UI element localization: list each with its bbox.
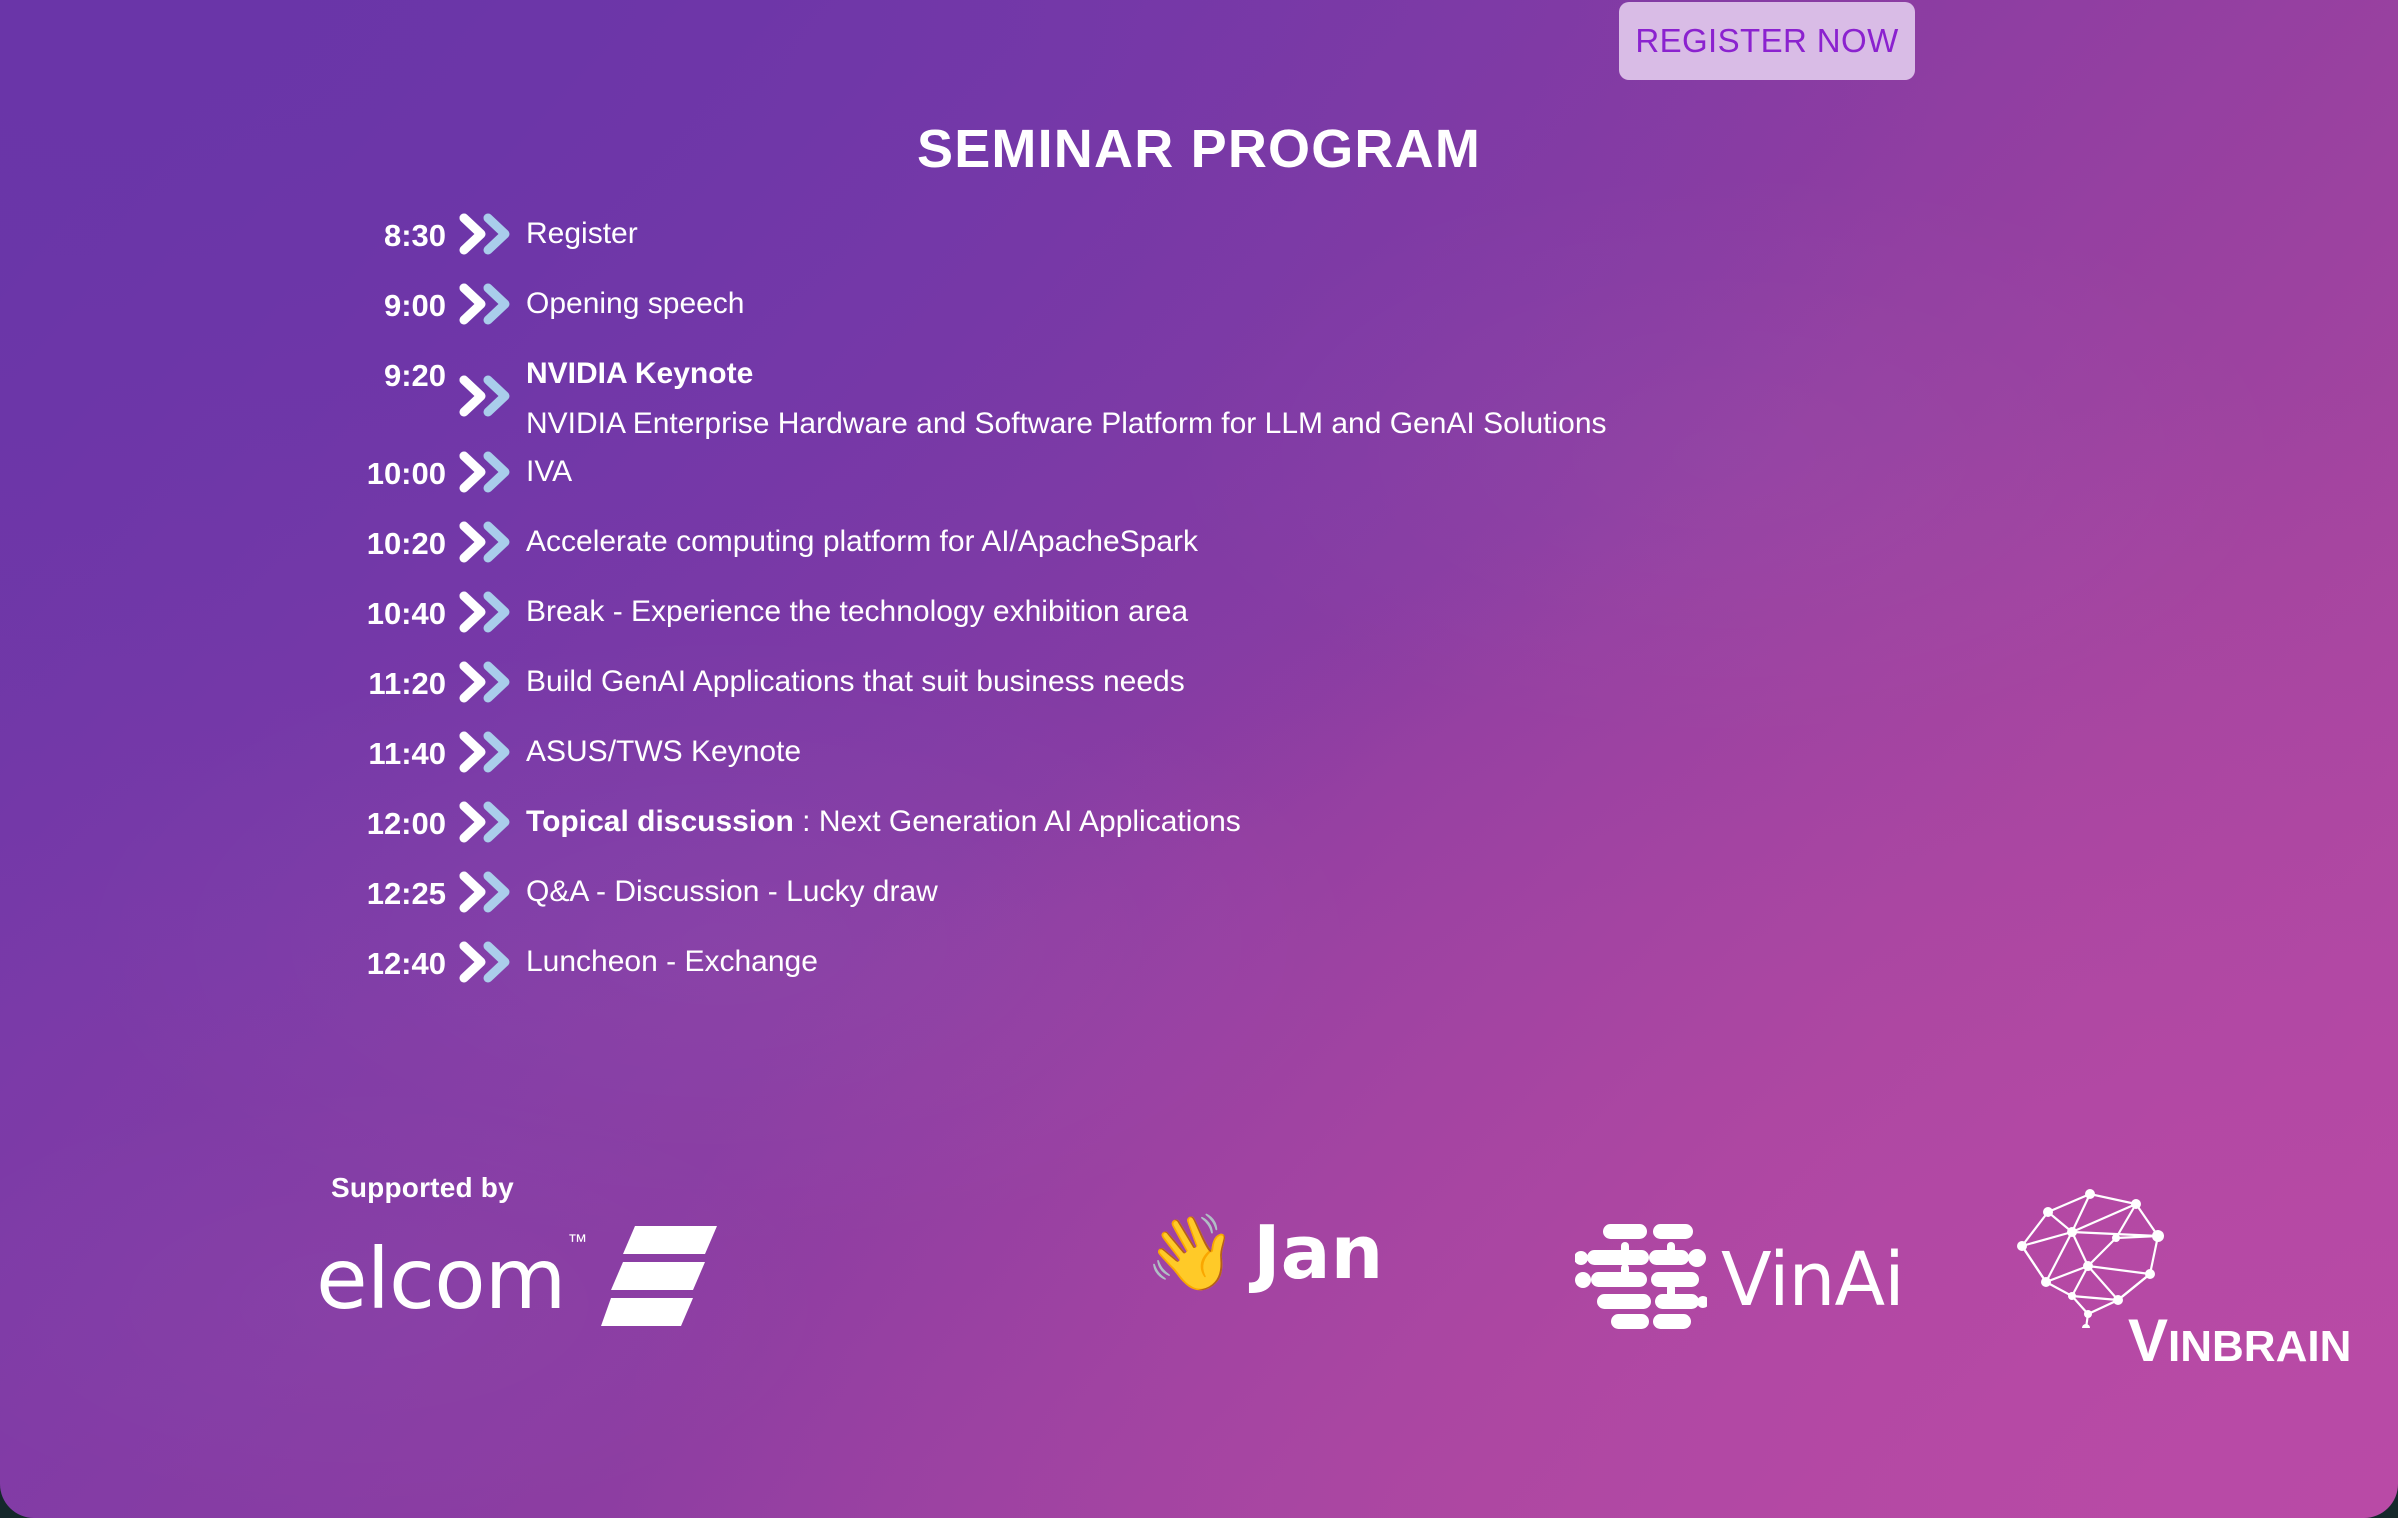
double-chevron-right-icon xyxy=(446,939,526,985)
schedule-row-time: 10:20 xyxy=(334,523,446,559)
schedule-row-description: Luncheon - Exchange xyxy=(526,943,818,977)
schedule-row: 8:30 Register xyxy=(0,215,2398,285)
schedule-list: 8:30 Register9:00 Opening speech9:20 NVI… xyxy=(0,215,2398,1013)
double-chevron-right-icon xyxy=(446,211,526,257)
schedule-row-time: 12:40 xyxy=(334,943,446,979)
schedule-row-time: 12:00 xyxy=(334,803,446,839)
page-title: SEMINAR PROGRAM xyxy=(0,118,2398,180)
schedule-row-text: Register xyxy=(526,217,638,250)
schedule-row-description: Opening speech xyxy=(526,285,745,319)
schedule-row-time: 10:40 xyxy=(334,593,446,629)
schedule-row-description: Topical discussion : Next Generation AI … xyxy=(526,803,1241,837)
waving-hand-icon: 👋 xyxy=(1145,1216,1237,1290)
logo-elcom: elcom ™ xyxy=(316,1224,717,1333)
schedule-row-text: Luncheon - Exchange xyxy=(526,945,818,978)
logo-elcom-wordmark: elcom xyxy=(316,1237,565,1321)
schedule-row-description: Build GenAI Applications that suit busin… xyxy=(526,663,1185,697)
register-now-button[interactable]: REGISTER NOW xyxy=(1619,2,1915,80)
logo-vinbrain-wordmark: VINBRAIN xyxy=(2128,1311,2351,1371)
schedule-row: 9:00 Opening speech xyxy=(0,285,2398,355)
logo-jan-wordmark: Jan xyxy=(1253,1216,1383,1290)
schedule-row-time: 12:25 xyxy=(334,873,446,909)
schedule-row: 9:20 NVIDIA KeynoteNVIDIA Enterprise Har… xyxy=(0,355,2398,453)
elcom-e-mark-icon xyxy=(601,1224,717,1333)
double-chevron-right-icon xyxy=(446,589,526,635)
logo-jan: 👋 Jan xyxy=(1145,1216,1383,1290)
double-chevron-right-icon xyxy=(446,799,526,845)
schedule-row: 10:40 Break - Experience the technology … xyxy=(0,593,2398,663)
schedule-row-time: 11:40 xyxy=(334,733,446,769)
schedule-row-description: IVA xyxy=(526,453,572,487)
schedule-row-time: 11:20 xyxy=(334,663,446,699)
schedule-row-text: Q&A - Discussion - Lucky draw xyxy=(526,875,938,908)
logo-vinai: VinAi xyxy=(1575,1218,1904,1341)
trademark-icon: ™ xyxy=(567,1232,587,1252)
schedule-row-description: Register xyxy=(526,215,638,249)
schedule-row-text: Break - Experience the technology exhibi… xyxy=(526,595,1188,628)
schedule-row-text: : Next Generation AI Applications xyxy=(794,805,1241,838)
double-chevron-right-icon xyxy=(446,659,526,705)
logo-vinbrain: VINBRAIN xyxy=(2000,1178,2351,1371)
schedule-row-text: Opening speech xyxy=(526,287,745,320)
schedule-row-time: 9:20 xyxy=(334,355,446,391)
schedule-row-lead: NVIDIA Keynote xyxy=(526,357,753,390)
schedule-row-text: Build GenAI Applications that suit busin… xyxy=(526,665,1185,698)
schedule-row: 10:20 Accelerate computing platform for … xyxy=(0,523,2398,593)
double-chevron-right-icon xyxy=(446,281,526,327)
vinai-neural-network-icon xyxy=(1575,1218,1707,1341)
schedule-row: 11:20 Build GenAI Applications that suit… xyxy=(0,663,2398,733)
supported-by-label: Supported by xyxy=(331,1172,514,1204)
schedule-row-description: NVIDIA KeynoteNVIDIA Enterprise Hardware… xyxy=(526,355,1607,439)
double-chevron-right-icon xyxy=(446,869,526,915)
double-chevron-right-icon xyxy=(446,729,526,775)
schedule-row-text: ASUS/TWS Keynote xyxy=(526,735,801,768)
logo-vinai-wordmark: VinAi xyxy=(1721,1243,1904,1317)
schedule-row-text: IVA xyxy=(526,455,572,488)
schedule-row: 12:25 Q&A - Discussion - Lucky draw xyxy=(0,873,2398,943)
schedule-row: 10:00 IVA xyxy=(0,453,2398,523)
double-chevron-right-icon xyxy=(446,449,526,495)
schedule-row: 12:40 Luncheon - Exchange xyxy=(0,943,2398,1013)
schedule-row-time: 9:00 xyxy=(334,285,446,321)
seminar-program-slide: REGISTER NOW SEMINAR PROGRAM 8:30 Regist… xyxy=(0,0,2398,1518)
schedule-row-description: Accelerate computing platform for AI/Apa… xyxy=(526,523,1198,557)
schedule-row-lead: Topical discussion xyxy=(526,805,794,838)
double-chevron-right-icon xyxy=(446,373,526,419)
sponsor-logos: elcom ™ 👋 Jan xyxy=(300,1210,2350,1350)
schedule-row-text: Accelerate computing platform for AI/Apa… xyxy=(526,525,1198,558)
schedule-row-description: ASUS/TWS Keynote xyxy=(526,733,801,767)
double-chevron-right-icon xyxy=(446,519,526,565)
schedule-row-subtext: NVIDIA Enterprise Hardware and Software … xyxy=(526,409,1607,439)
schedule-row-time: 8:30 xyxy=(334,215,446,251)
schedule-row-description: Break - Experience the technology exhibi… xyxy=(526,593,1188,627)
schedule-row-description: Q&A - Discussion - Lucky draw xyxy=(526,873,938,907)
schedule-row-time: 10:00 xyxy=(334,453,446,489)
schedule-row: 11:40 ASUS/TWS Keynote xyxy=(0,733,2398,803)
schedule-row: 12:00 Topical discussion : Next Generati… xyxy=(0,803,2398,873)
